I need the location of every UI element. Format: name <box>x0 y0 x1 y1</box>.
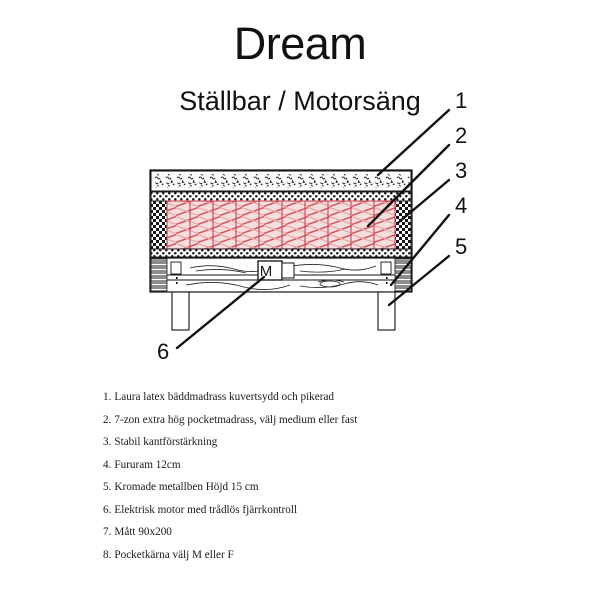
product-diagram-page: Dream Ställbar / Motorsäng <box>0 0 600 600</box>
legend-item: 1.Laura latex bäddmadrass kuvertsydd och… <box>103 391 523 403</box>
edge-reinforcement-left <box>151 201 167 249</box>
callout-number-4: 4 <box>455 193 467 218</box>
layer-top-latex-mattress <box>151 171 411 191</box>
legend-item: 7.Mått 90x200 <box>103 526 523 538</box>
legend-item-text: Pocketkärna välj M eller F <box>114 549 233 561</box>
legend-item-text: Kromade metallben Höjd 15 cm <box>114 481 258 493</box>
legend-item: 6.Elektrisk motor med trådlös fjärrkontr… <box>103 504 523 516</box>
legend-item: 5.Kromade metallben Höjd 15 cm <box>103 481 523 493</box>
pine-frame-assembly: M <box>150 258 412 292</box>
legend-item-number: 5. <box>103 481 111 493</box>
legend-item: 3.Stabil kantförstärkning <box>103 436 523 448</box>
legend-item-number: 1. <box>103 391 111 403</box>
callout-number-5: 5 <box>455 234 467 259</box>
frame-end-left <box>151 259 167 291</box>
legend-item-text: Stabil kantförstärkning <box>114 436 217 448</box>
legend-list: 1.Laura latex bäddmadrass kuvertsydd och… <box>103 391 523 571</box>
layer-felt-lower <box>151 249 411 257</box>
legend-item-number: 7. <box>103 526 111 538</box>
legend-item-number: 2. <box>103 414 111 426</box>
frame-post-left <box>171 262 181 274</box>
mattress-assembly <box>150 170 412 258</box>
legend-item: 4.Fururam 12cm <box>103 459 523 471</box>
legend-item: 2.7-zon extra hög pocketmadrass, välj me… <box>103 414 523 426</box>
electric-motor: M <box>258 261 282 280</box>
legend-item-number: 3. <box>103 436 111 448</box>
legend-item-text: Elektrisk motor med trådlös fjärrkontrol… <box>114 504 297 516</box>
legend-item-number: 8. <box>103 549 111 561</box>
legend-item-text: 7-zon extra hög pocketmadrass, välj medi… <box>114 414 357 426</box>
legend-item-number: 6. <box>103 504 111 516</box>
edge-reinforcement-right <box>395 201 411 249</box>
callout-number-3: 3 <box>455 158 467 183</box>
legend-item-text: Laura latex bäddmadrass kuvertsydd och p… <box>114 391 334 403</box>
leg-left <box>172 292 189 330</box>
callout-number-6: 6 <box>157 339 169 364</box>
frame-post-right <box>381 262 391 274</box>
legend-item-text: Mått 90x200 <box>114 526 172 538</box>
callout-number-2: 2 <box>455 123 467 148</box>
layer-felt-upper <box>151 192 411 201</box>
layer-pocket-spring-core <box>167 201 395 249</box>
legend-item-text: Fururam 12cm <box>114 459 180 471</box>
legend-item: 8.Pocketkärna välj M eller F <box>103 549 523 561</box>
legend-item-number: 4. <box>103 459 111 471</box>
motor-actuator <box>282 263 294 278</box>
callout-number-1: 1 <box>455 88 467 113</box>
leg-right <box>378 292 395 330</box>
